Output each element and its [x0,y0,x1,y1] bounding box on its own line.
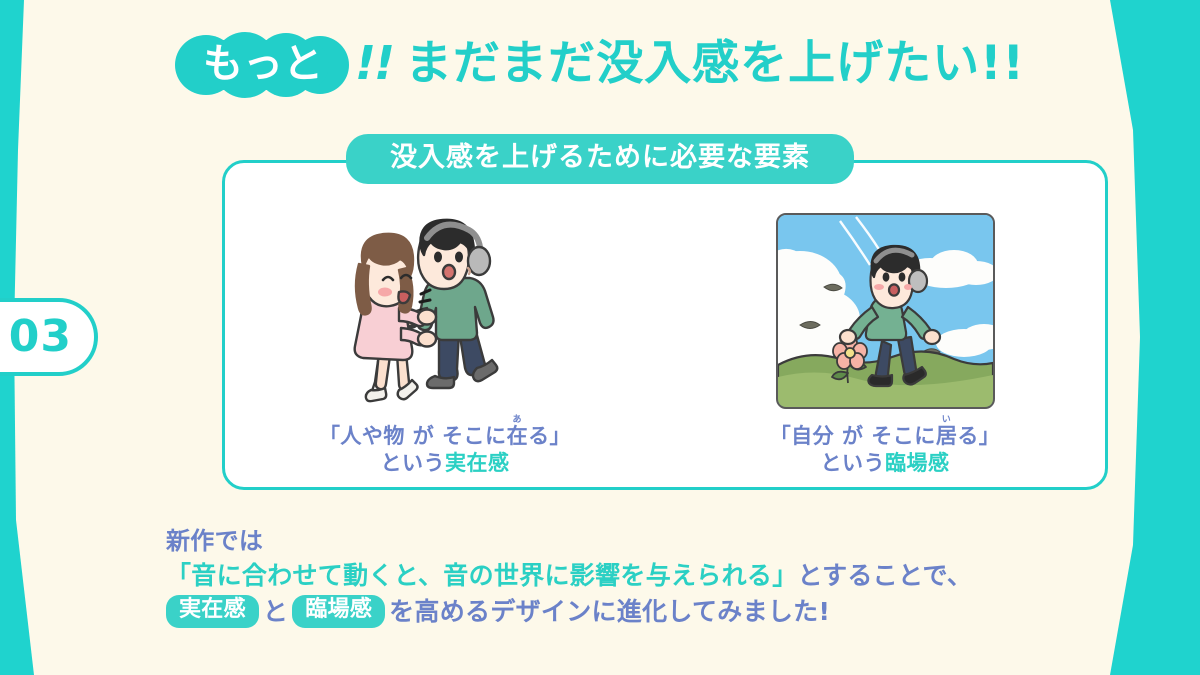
right-illustration-wrap [776,197,995,409]
slide-number-text: 03 [9,315,72,359]
card-panes: 「人や物 が そこに在ある」 という実在感 [225,197,1105,487]
left-caption-line1-pre: 「人や物 が そこに [319,424,507,448]
pill-realism: 臨場感 [292,595,385,627]
motto-badge-label: もっと [203,44,323,87]
left-caption-line2-pre: という [381,451,446,475]
boy-on-grass-hill-illustration [776,213,995,409]
slide-number-badge: 03 [0,298,98,376]
right-caption-ruby: 居い [936,424,958,448]
bottom-quote-tail: とすることで、 [798,558,973,594]
two-kids-interacting-illustration [335,204,555,409]
left-illustration-wrap [335,197,555,409]
pane-realism: 「自分 が そこに居いる」 という臨場感 [665,197,1105,487]
page-title: まだまだ没入感を上げたい!! [405,40,1025,90]
bottom-line3-tail: を高めるデザインに進化してみました! [389,594,830,630]
right-caption-line2-pre: という [821,451,886,475]
card-heading-badge: 没入感を上げるために必要な要素 [346,134,854,184]
ruby-base: 在 [507,424,529,448]
ruby-base: 居 [936,424,958,448]
ruby-text: あ [507,415,528,425]
right-caption: 「自分 が そこに居いる」 という臨場感 [770,415,1001,477]
right-caption-line1-pre: 「自分 が そこに [770,424,936,448]
bottom-description: 新作では 「音に合わせて動くと、音の世界に影響を与えられる」とすることで、 実在… [166,524,972,629]
bottom-line-3: 実在感 と 臨場感 を高めるデザインに進化してみました! [166,594,972,630]
left-caption-ruby: 在あ [507,424,529,448]
elements-card: 「人や物 が そこに在ある」 という実在感 [222,160,1108,490]
left-caption: 「人や物 が そこに在ある」 という実在感 [319,415,571,477]
right-caption-highlight: 臨場感 [885,451,950,475]
bottom-line-2: 「音に合わせて動くと、音の世界に影響を与えられる」とすることで、 [166,558,972,594]
left-caption-highlight: 実在感 [445,451,510,475]
title-exclamation: !! [355,40,393,90]
right-caption-line1-post: る」 [957,424,1000,448]
slide-title-row: もっと !! まだまだ没入感を上げたい!! [0,26,1200,104]
bottom-line-1: 新作では [166,524,972,558]
ruby-text: い [936,415,957,425]
bottom-quote-text: 「音に合わせて動くと、音の世界に影響を与えられる」 [166,558,798,594]
bottom-line3-conjunction: と [263,594,288,630]
pane-presence: 「人や物 が そこに在ある」 という実在感 [225,197,665,487]
left-caption-line1-post: る」 [528,424,571,448]
pill-presence: 実在感 [166,595,259,627]
motto-badge: もっと [175,32,351,98]
